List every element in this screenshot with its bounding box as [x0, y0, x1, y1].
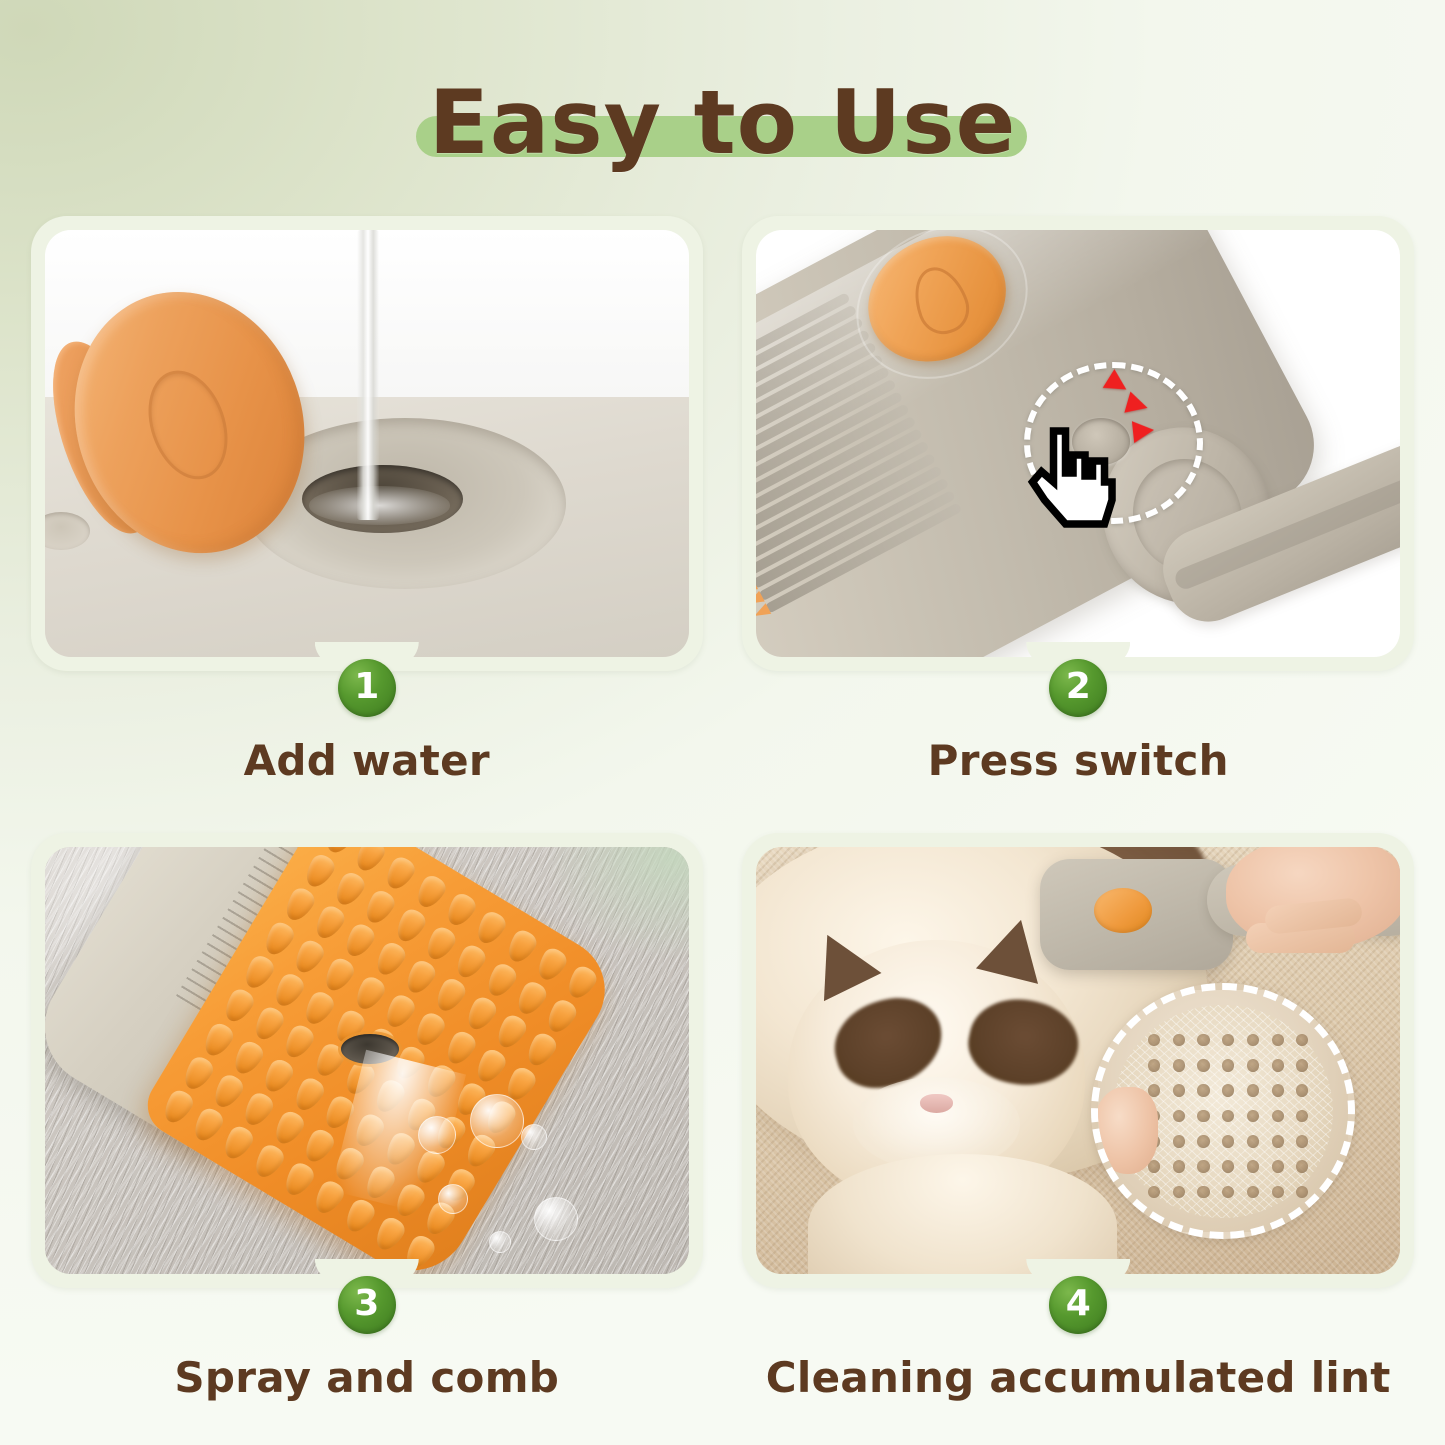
step-1-badge: 1: [338, 659, 396, 717]
steam-brush: [1040, 859, 1233, 970]
water-bubble: [489, 1231, 511, 1253]
step-3-badge-number: 3: [354, 1286, 379, 1322]
steps-grid: 1 Add water: [28, 216, 1417, 1431]
bristle-hole-grid: [1143, 1029, 1313, 1203]
orange-plug: [77, 290, 302, 555]
step-3-caption: Spray and comb: [28, 1353, 706, 1402]
step-4-badge: 4: [1049, 1276, 1107, 1334]
cat-nose: [920, 1094, 952, 1113]
step-1-caption: Add water: [28, 736, 706, 785]
step-4-caption: Cleaning accumulated lint: [740, 1353, 1418, 1402]
step-2-caption: Press switch: [740, 736, 1418, 785]
step-card-1: 1 Add water: [28, 216, 706, 815]
step-3-badge: 3: [338, 1276, 396, 1334]
infographic-page: Easy to Use: [0, 0, 1445, 1445]
step-3-spray-and-comb-photo: [45, 847, 689, 1274]
water-stream: [357, 230, 379, 520]
step-card-3: 3 Spray and comb: [28, 833, 706, 1432]
step-2-badge: 2: [1049, 659, 1107, 717]
step-4-frame: [742, 833, 1414, 1288]
step-card-2: 2 Press switch: [740, 216, 1418, 815]
page-title-text: Easy to Use: [429, 75, 1017, 170]
step-3-frame: [31, 833, 703, 1288]
water-bubble: [534, 1197, 578, 1241]
step-4-cleaning-lint-photo: [756, 847, 1400, 1274]
water-drop-icon: [1094, 888, 1152, 932]
thumb: [1093, 1087, 1158, 1174]
step-2-badge-number: 2: [1066, 669, 1091, 705]
red-arrow-icon: [1132, 419, 1155, 443]
step-card-4: 4 Cleaning accumulated lint: [740, 833, 1418, 1432]
step-1-badge-number: 1: [354, 669, 379, 705]
step-1-add-water-photo: [45, 230, 689, 657]
water-bubble: [438, 1184, 468, 1214]
hand-cursor-icon: [1020, 422, 1123, 533]
water-splash: [309, 486, 451, 524]
page-title: Easy to Use: [0, 58, 1445, 188]
step-2-press-switch-photo: [756, 230, 1400, 657]
water-bubble: [470, 1094, 524, 1148]
step-4-badge-number: 4: [1066, 1286, 1091, 1322]
step-1-frame: [31, 216, 703, 671]
lint-closeup-inset: [1091, 983, 1355, 1239]
step-2-frame: [742, 216, 1414, 671]
water-bubble: [418, 1116, 456, 1154]
